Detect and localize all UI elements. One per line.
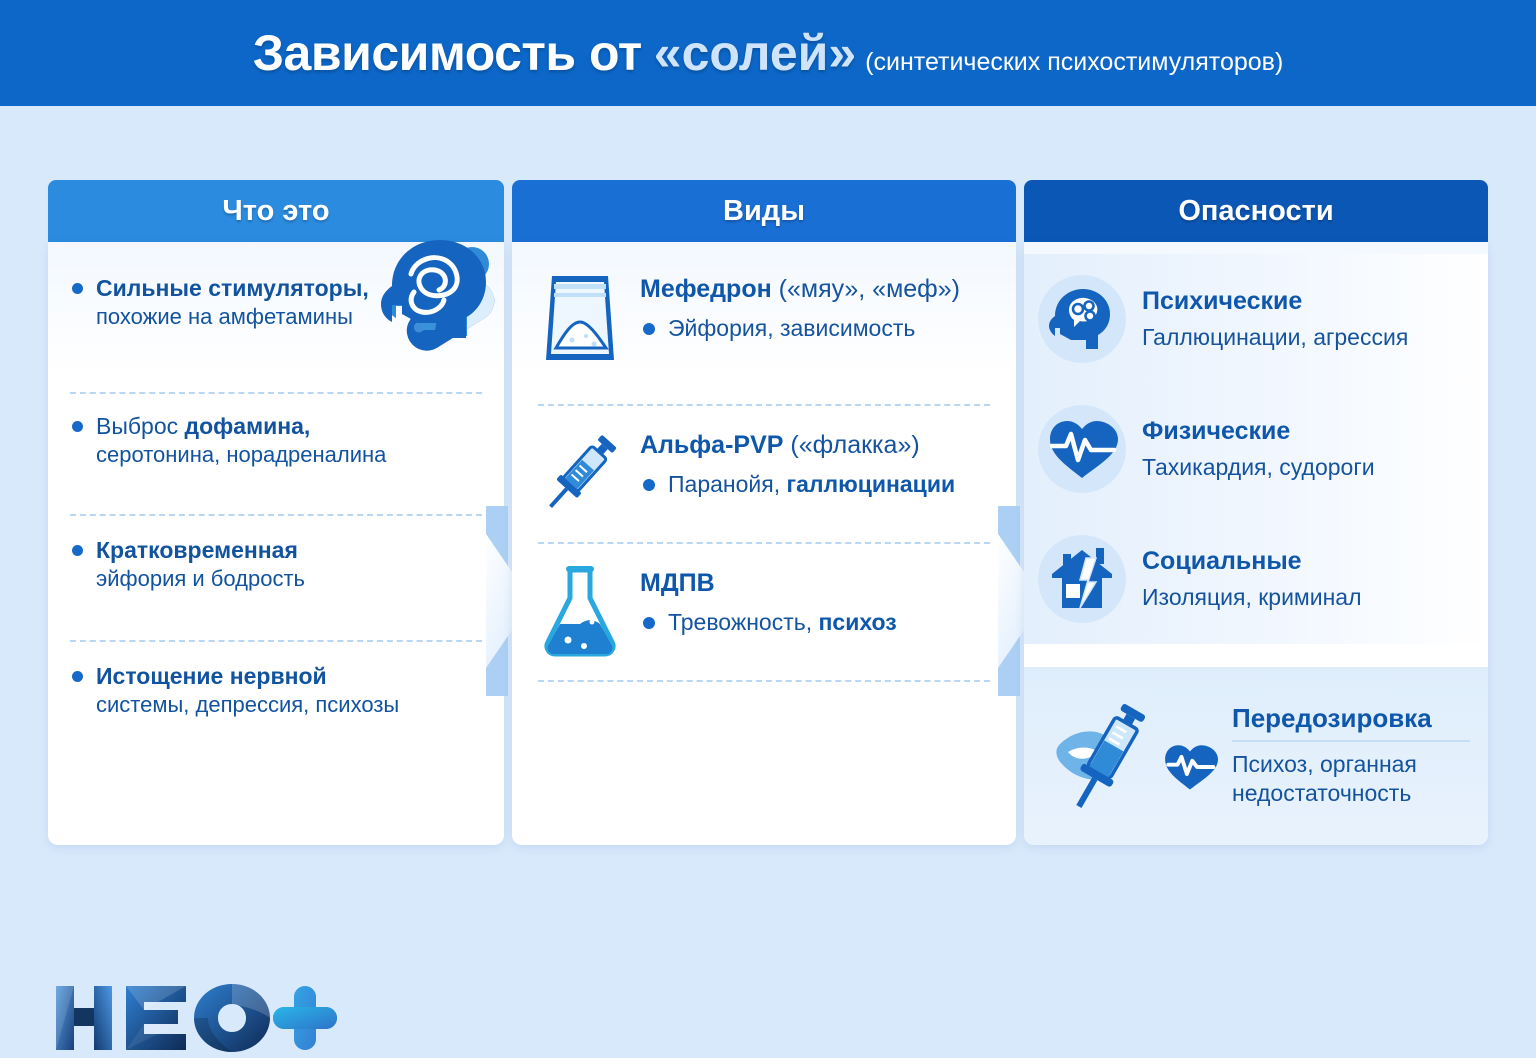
danger-sub: Галлюцинации, агрессия [1142,324,1470,352]
type-text: Мефедрон («мяу», «меф») Эйфория, зависим… [640,268,960,343]
card-body-what-is-it: Сильные стимуляторы, похожие на амфетами… [48,242,504,845]
overdose-panel: Передозировка Психоз, органная недостато… [1024,667,1488,845]
card-body-dangers: Психические Галлюцинации, агрессия Физич… [1024,242,1488,845]
divider [1232,740,1470,742]
heart-pulse-icon [1162,741,1218,793]
broken-house-icon [1038,535,1126,623]
page-title-band: Зависимость от «солей» (синтетических пс… [0,0,1536,106]
card-header-dangers: Опасности [1024,180,1488,242]
bullet-dot-icon [72,421,83,432]
bullet-dot-icon [643,479,655,491]
head-thought-bubble-icon [1038,275,1126,363]
type-mephedrone: Мефедрон («мяу», «меф») Эйфория, зависим… [538,268,990,368]
type-name: Мефедрон («мяу», «меф») [640,274,960,304]
powder-bag-icon [538,268,622,368]
danger-text: Психические Галлюцинации, агрессия [1142,287,1470,351]
card-title-dangers: Опасности [1178,195,1333,228]
list-item: Кратковременная эйфория и бодрость 3 [70,516,482,640]
list-item: Выброс дофамина, серотонина, норадренали… [70,394,482,514]
neo-plus-logo [50,978,350,1058]
logo-letter-o [194,984,270,1052]
logo-letter-e [126,986,186,1050]
bullet-dot-icon [72,283,83,294]
type-alpha-pvp: Альфа-PVP («флакка») Паранойя, галлюцина… [538,424,990,524]
type-name: МДПВ [640,568,897,598]
danger-sub: Тахикардия, судороги [1142,454,1470,482]
type-text: МДПВ Тревожность, психоз [640,562,897,637]
card-title-types: Виды [723,195,805,228]
bullet-dot-icon [643,323,655,335]
type-effects: Тревожность, психоз [640,608,897,637]
danger-title: Физические [1142,417,1470,446]
bullet-dopamine-release: Выброс дофамина, серотонина, норадренали… [70,412,482,470]
page-title: Зависимость от [253,24,642,82]
heart-pulse-icon [1038,405,1126,493]
logo-letter-n [56,986,112,1050]
danger-text: Социальные Изоляция, криминал [1142,547,1470,611]
overdose-sub-line2: недостаточность [1232,779,1470,808]
bullet-line1: Выброс дофамина, [96,412,482,441]
type-effects: Паранойя, галлюцинации [640,470,955,499]
danger-title: Социальные [1142,547,1470,576]
page-title-highlight: «солей» [654,24,856,82]
card-what-is-it: Что это Сильные стимуляторы, похожие на … [48,180,504,845]
type-mdpv: МДПВ Тревожность, психоз [538,562,990,662]
danger-sub: Изоляция, криминал [1142,584,1470,612]
syringe-overdose-icon [1046,696,1166,816]
bullet-line2: серотонина, норадреналина [96,441,482,470]
syringe-icon [538,424,622,524]
danger-row-social: Социальные Изоляция, криминал [1024,514,1488,644]
card-body-types: Мефедрон («мяу», «меф») Эйфория, зависим… [512,242,1016,845]
list-item: МДПВ Тревожность, психоз [538,544,990,680]
card-dangers: Опасности Психические Галл [1024,180,1488,845]
type-text: Альфа-PVP («флакка») Паранойя, галлюцина… [640,424,955,499]
overdose-sub-line1: Психоз, органная [1232,750,1470,779]
bullet-line2: эйфория и бодрость [96,565,482,594]
bullet-short-euphoria: Кратковременная эйфория и бодрость [70,536,482,594]
danger-row-mental: Психические Галлюцинации, агрессия [1024,254,1488,384]
card-types: Виды [512,180,1016,845]
logo-plus [273,986,337,1050]
danger-row-physical: Физические Тахикардия, судороги [1024,384,1488,514]
danger-title: Психические [1142,287,1470,316]
type-name: Альфа-PVP («флакка») [640,430,955,460]
bullet-nervous-exhaustion: Истощение нервной системы, депрессия, пс… [70,662,482,720]
flask-icon [538,562,622,662]
bullet-line2: системы, депрессия, психозы [96,691,482,720]
overdose-text: Передозировка Психоз, органная недостато… [1232,704,1470,807]
danger-text: Физические Тахикардия, судороги [1142,417,1470,481]
infographic-board: Что это Сильные стимуляторы, похожие на … [0,106,1536,1024]
divider [538,680,990,682]
card-header-types: Виды [512,180,1016,242]
bullet-line1: Кратковременная [96,536,482,565]
card-title-what-is-it: Что это [222,195,329,228]
list-item: Альфа-PVP («флакка») Паранойя, галлюцина… [538,406,990,542]
bullet-dot-icon [72,671,83,682]
title-inner: Зависимость от «солей» (синтетических пс… [253,24,1284,82]
bullet-dot-icon [643,617,655,629]
bullet-dot-icon [72,545,83,556]
type-effects: Эйфория, зависимость [640,314,960,343]
bullet-line1: Истощение нервной [96,662,482,691]
head-tangled-brain-icon [366,230,496,358]
list-item: Мефедрон («мяу», «меф») Эйфория, зависим… [538,268,990,404]
page-subtitle: (синтетических психостимуляторов) [865,48,1283,77]
overdose-title: Передозировка [1232,704,1470,734]
list-item: Истощение нервной системы, депрессия, пс… [70,642,482,772]
